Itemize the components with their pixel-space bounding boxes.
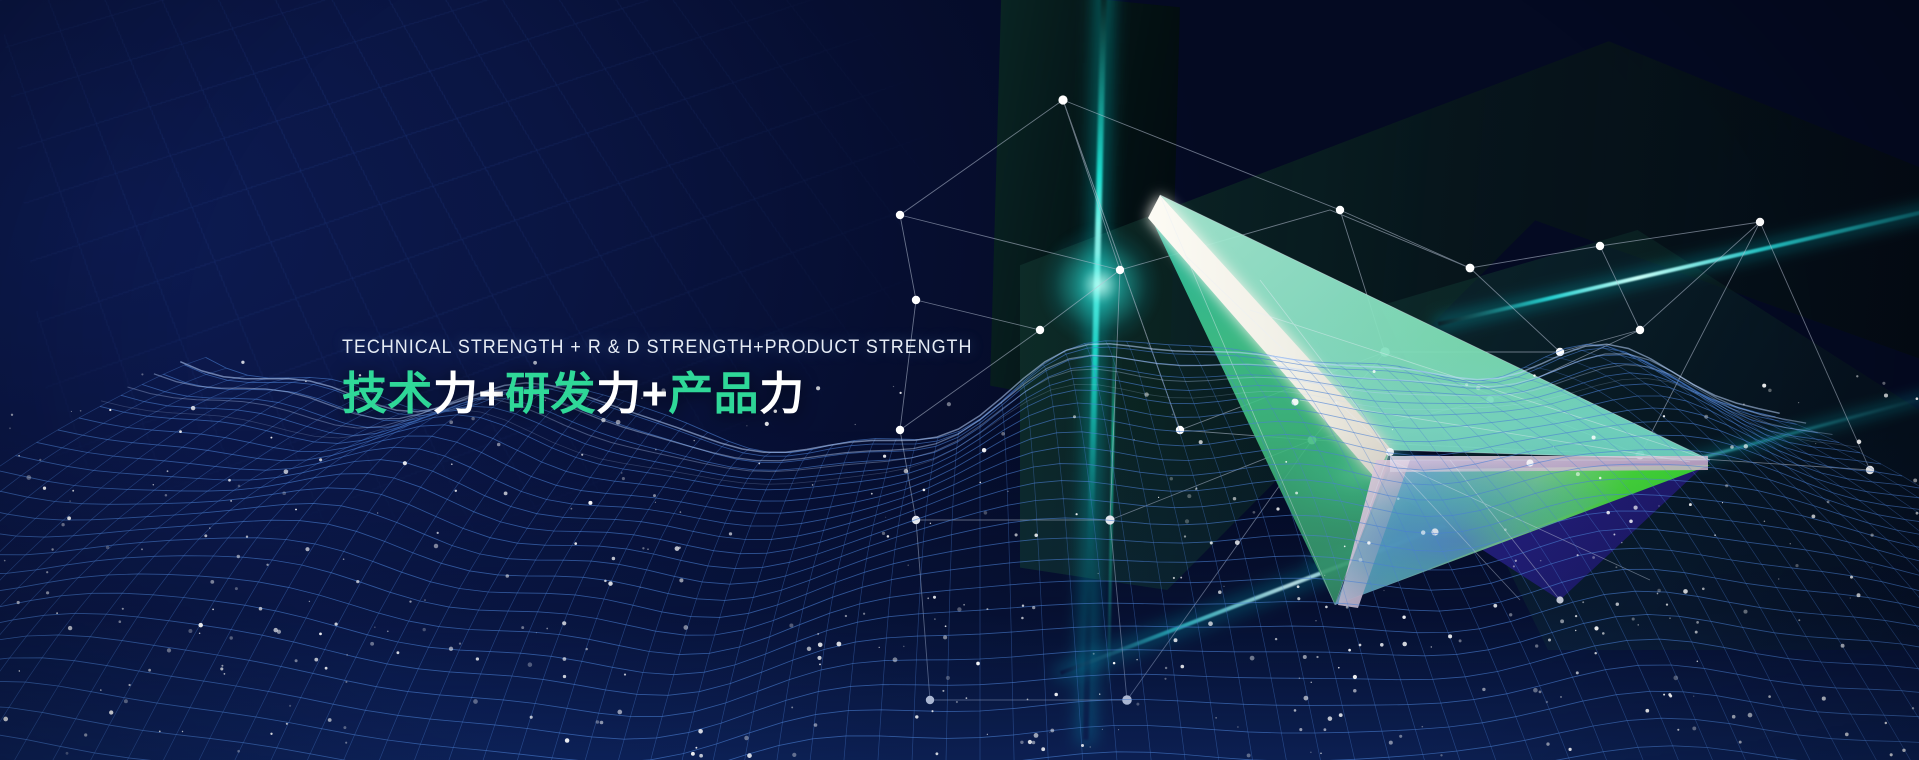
headline-segment-5: 产品 bbox=[668, 368, 759, 419]
hero-copy: TECHNICAL STRENGTH + R & D STRENGTH+PROD… bbox=[342, 336, 1042, 419]
headline-segment-6: 力 bbox=[759, 368, 804, 419]
hero-banner: TECHNICAL STRENGTH + R & D STRENGTH+PROD… bbox=[0, 0, 1919, 760]
eyebrow-text: TECHNICAL STRENGTH + R & D STRENGTH+PROD… bbox=[342, 336, 986, 359]
headline-segment-3: 研发 bbox=[505, 368, 596, 419]
headline-segment-2: 力+ bbox=[433, 368, 505, 419]
headline-segment-4: 力+ bbox=[596, 368, 668, 419]
page-title: 技术力+研发力+产品力 bbox=[342, 369, 1042, 419]
headline-segment-1: 技术 bbox=[342, 368, 433, 419]
